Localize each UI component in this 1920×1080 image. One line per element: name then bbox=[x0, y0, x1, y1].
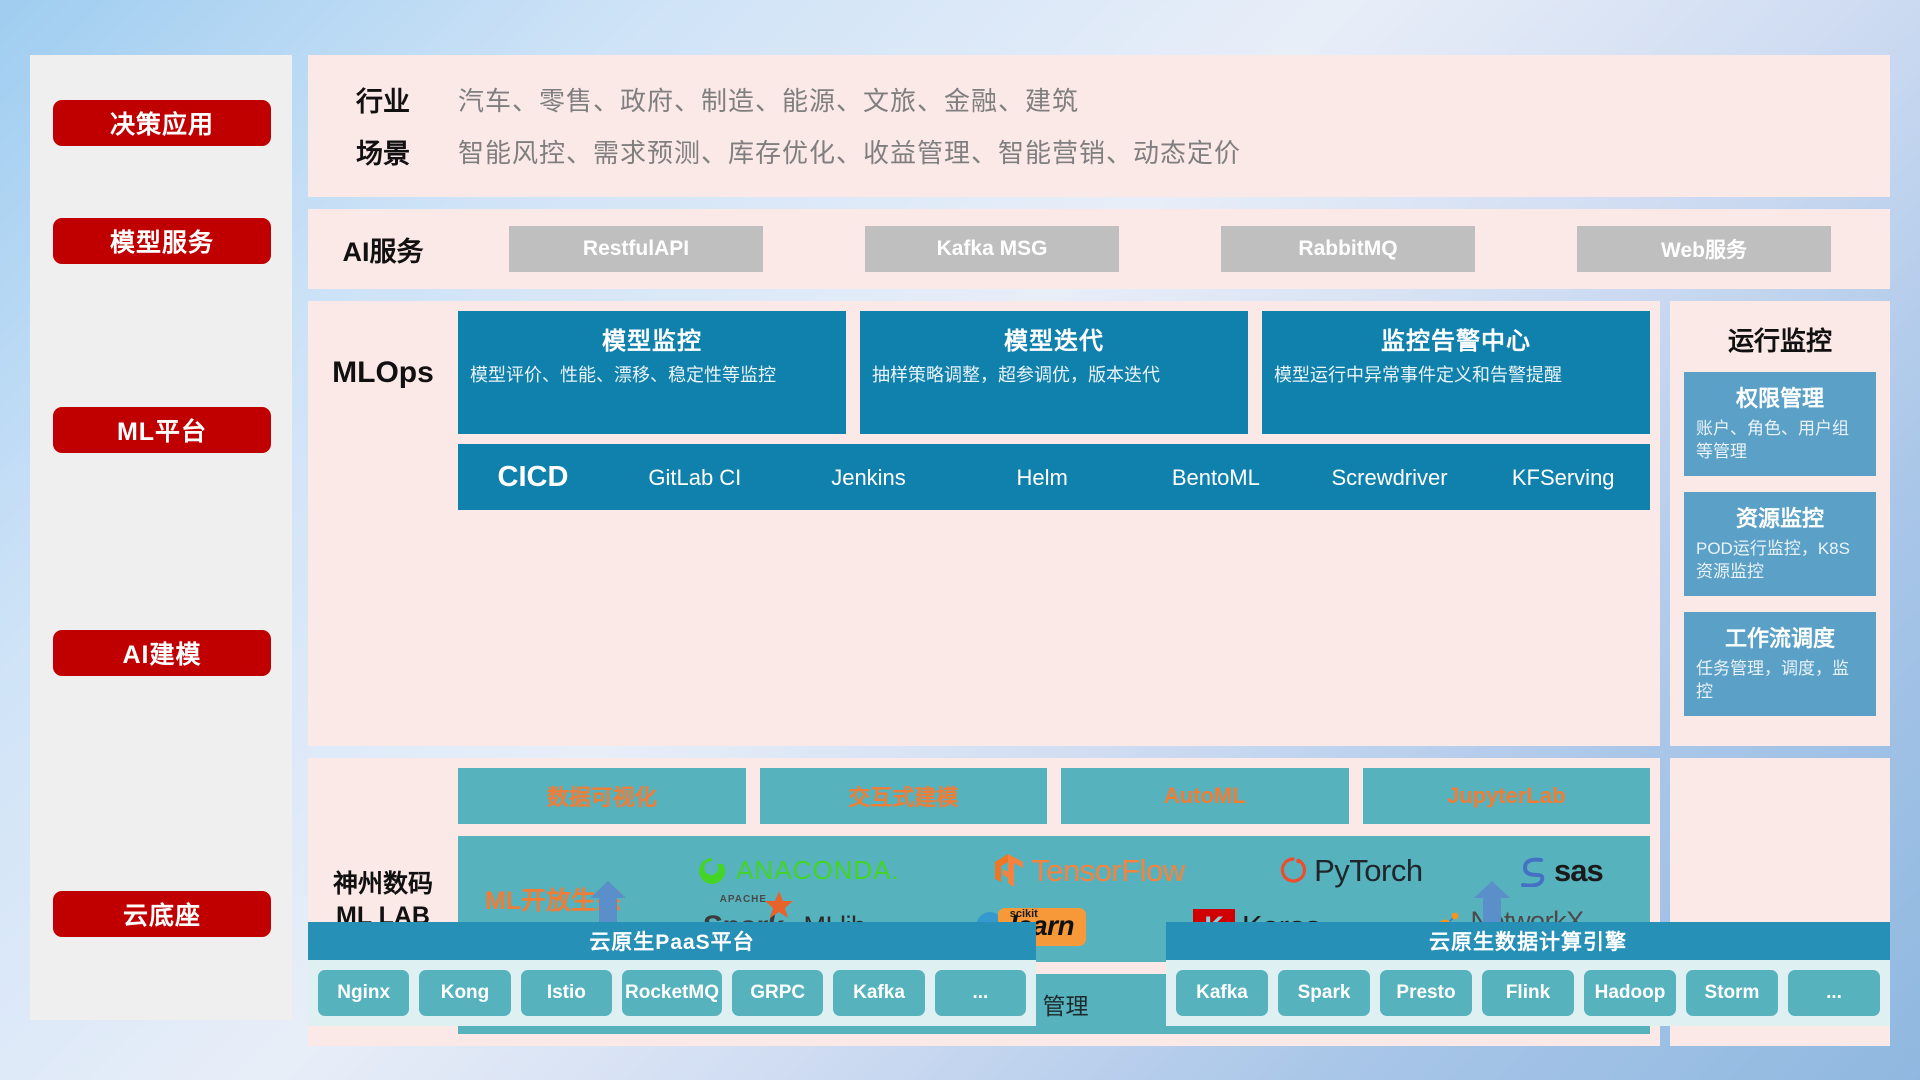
cicd-item-bentoml[interactable]: BentoML bbox=[1129, 465, 1303, 489]
card-title: 模型监控 bbox=[470, 321, 834, 356]
industry-values: 汽车、零售、政府、制造、能源、文旅、金融、建筑 bbox=[458, 81, 1079, 118]
paas-title: 云原生PaaS平台 bbox=[308, 922, 1036, 960]
paas-chip-grpc[interactable]: GRPC bbox=[732, 970, 823, 1016]
engine-chip-more[interactable]: ... bbox=[1788, 970, 1880, 1016]
ml-platform-row: MLOps 模型监控 模型评价、性能、漂移、稳定性等监控 模型迭代 抽样策略调整… bbox=[308, 301, 1890, 746]
sidebar-item-ml-platform[interactable]: ML平台 bbox=[53, 407, 271, 453]
card-title: 监控告警中心 bbox=[1274, 321, 1638, 356]
sidebar-item-ai-modeling[interactable]: AI建模 bbox=[53, 630, 271, 676]
paas-chip-more[interactable]: ... bbox=[935, 970, 1026, 1016]
engine-chip-hadoop[interactable]: Hadoop bbox=[1584, 970, 1676, 1016]
card-desc: 模型评价、性能、漂移、稳定性等监控 bbox=[470, 363, 834, 387]
engine-chip-kafka[interactable]: Kafka bbox=[1176, 970, 1268, 1016]
sidebar-label: 决策应用 bbox=[110, 105, 214, 141]
scenario-label: 场景 bbox=[308, 132, 458, 171]
monitor-card-resource[interactable]: 资源监控 POD运行监控，K8S资源监控 bbox=[1684, 492, 1876, 596]
sidebar-item-cloud-base[interactable]: 云底座 bbox=[53, 891, 271, 937]
cloud-native-data-engine-panel: 云原生数据计算引擎 Kafka Spark Presto Flink Hadoo… bbox=[1166, 922, 1890, 1026]
card-title: 工作流调度 bbox=[1696, 621, 1864, 653]
engine-title: 云原生数据计算引擎 bbox=[1166, 922, 1890, 960]
engine-chip-storm[interactable]: Storm bbox=[1686, 970, 1778, 1016]
mlops-label: MLOps bbox=[308, 311, 458, 434]
card-desc: 任务管理，调度，监控 bbox=[1696, 658, 1864, 704]
sidebar-item-decision-apps[interactable]: 决策应用 bbox=[53, 100, 271, 146]
service-label: RestfulAPI bbox=[583, 237, 689, 261]
paas-up-arrow-icon bbox=[588, 880, 628, 922]
paas-chip-kong[interactable]: Kong bbox=[419, 970, 510, 1016]
card-title: 模型迭代 bbox=[872, 321, 1236, 356]
sidebar-label: 云底座 bbox=[123, 896, 201, 932]
monitor-card-permission[interactable]: 权限管理 账户、角色、用户组等管理 bbox=[1684, 372, 1876, 476]
service-label: Kafka MSG bbox=[937, 237, 1048, 261]
band-divider bbox=[308, 289, 1890, 301]
runtime-monitor-panel: 运行监控 权限管理 账户、角色、用户组等管理 资源监控 POD运行监控，K8S资… bbox=[1670, 301, 1890, 746]
cicd-bar: CICD GitLab CI Jenkins Helm BentoML Scre… bbox=[458, 444, 1650, 510]
service-label: Web服务 bbox=[1661, 234, 1747, 264]
decision-apps-band: 行业 汽车、零售、政府、制造、能源、文旅、金融、建筑 场景 智能风控、需求预测、… bbox=[308, 55, 1890, 197]
engine-chip-presto[interactable]: Presto bbox=[1380, 970, 1472, 1016]
cicd-item-helm[interactable]: Helm bbox=[955, 465, 1129, 489]
card-desc: 模型运行中异常事件定义和告警提醒 bbox=[1274, 363, 1638, 387]
service-button-kafka-msg[interactable]: Kafka MSG bbox=[865, 226, 1119, 272]
industry-label: 行业 bbox=[308, 80, 458, 119]
paas-chip-rocketmq[interactable]: RocketMQ bbox=[622, 970, 722, 1016]
tool-box-jupyterlab[interactable]: JupyterLab bbox=[1363, 768, 1651, 824]
tool-box-data-visualization[interactable]: 数据可视化 bbox=[458, 768, 746, 824]
card-desc: 抽样策略调整，超参调优，版本迭代 bbox=[872, 363, 1236, 387]
service-button-restfulapi[interactable]: RestfulAPI bbox=[509, 226, 763, 272]
cloud-base-section: 云原生PaaS平台 Nginx Kong Istio RocketMQ GRPC… bbox=[308, 880, 1890, 1040]
card-desc: POD运行监控，K8S资源监控 bbox=[1696, 538, 1864, 584]
ai-service-list: RestfulAPI Kafka MSG RabbitMQ Web服务 bbox=[458, 226, 1890, 272]
sidebar-item-model-service[interactable]: 模型服务 bbox=[53, 218, 271, 264]
cicd-item-jenkins[interactable]: Jenkins bbox=[782, 465, 956, 489]
card-title: 资源监控 bbox=[1696, 501, 1864, 533]
paas-chip-nginx[interactable]: Nginx bbox=[318, 970, 409, 1016]
engine-chip-list: Kafka Spark Presto Flink Hadoop Storm ..… bbox=[1166, 960, 1890, 1026]
card-desc: 账户、角色、用户组等管理 bbox=[1696, 418, 1864, 464]
cicd-item-gitlab-ci[interactable]: GitLab CI bbox=[608, 465, 782, 489]
mlops-card-model-iteration[interactable]: 模型迭代 抽样策略调整，超参调优，版本迭代 bbox=[860, 311, 1248, 434]
card-title: 权限管理 bbox=[1696, 381, 1864, 413]
mlops-card-list: 模型监控 模型评价、性能、漂移、稳定性等监控 模型迭代 抽样策略调整，超参调优，… bbox=[458, 311, 1660, 434]
ml-lab-tool-row: 数据可视化 交互式建模 AutoML JupyterLab bbox=[458, 768, 1650, 824]
ai-service-band: AI服务 RestfulAPI Kafka MSG RabbitMQ Web服务 bbox=[308, 209, 1890, 289]
service-button-rabbitmq[interactable]: RabbitMQ bbox=[1221, 226, 1475, 272]
mlops-wrap: MLOps 模型监控 模型评价、性能、漂移、稳定性等监控 模型迭代 抽样策略调整… bbox=[308, 311, 1660, 434]
ai-service-label: AI服务 bbox=[308, 230, 458, 269]
stack-layer-sidebar: 决策应用 模型服务 ML平台 AI建模 云底座 bbox=[30, 55, 292, 1020]
paas-chip-list: Nginx Kong Istio RocketMQ GRPC Kafka ... bbox=[308, 960, 1036, 1026]
engine-up-arrow-icon bbox=[1472, 880, 1512, 922]
engine-chip-spark[interactable]: Spark bbox=[1278, 970, 1370, 1016]
cicd-item-list: GitLab CI Jenkins Helm BentoML Screwdriv… bbox=[608, 465, 1650, 489]
sidebar-label: ML平台 bbox=[117, 412, 207, 448]
tool-box-interactive-modeling[interactable]: 交互式建模 bbox=[760, 768, 1048, 824]
sidebar-label: AI建模 bbox=[122, 635, 201, 671]
cloud-native-paas-panel: 云原生PaaS平台 Nginx Kong Istio RocketMQ GRPC… bbox=[308, 922, 1036, 1026]
scenario-values: 智能风控、需求预测、库存优化、收益管理、智能营销、动态定价 bbox=[458, 133, 1241, 170]
mlops-card-alert-center[interactable]: 监控告警中心 模型运行中异常事件定义和告警提醒 bbox=[1262, 311, 1650, 434]
service-label: RabbitMQ bbox=[1298, 237, 1397, 261]
runtime-monitor-title: 运行监控 bbox=[1684, 315, 1876, 372]
cicd-item-kfserving[interactable]: KFServing bbox=[1476, 465, 1650, 489]
cicd-label: CICD bbox=[458, 461, 608, 494]
paas-chip-kafka[interactable]: Kafka bbox=[833, 970, 924, 1016]
band-divider bbox=[308, 197, 1890, 209]
engine-chip-flink[interactable]: Flink bbox=[1482, 970, 1574, 1016]
cicd-item-screwdriver[interactable]: Screwdriver bbox=[1303, 465, 1477, 489]
scenario-row: 场景 智能风控、需求预测、库存优化、收益管理、智能营销、动态定价 bbox=[308, 125, 1890, 177]
paas-chip-istio[interactable]: Istio bbox=[521, 970, 612, 1016]
mlops-card-model-monitoring[interactable]: 模型监控 模型评价、性能、漂移、稳定性等监控 bbox=[458, 311, 846, 434]
mlops-band: MLOps 模型监控 模型评价、性能、漂移、稳定性等监控 模型迭代 抽样策略调整… bbox=[308, 301, 1660, 746]
service-button-web[interactable]: Web服务 bbox=[1577, 226, 1831, 272]
monitor-card-workflow[interactable]: 工作流调度 任务管理，调度，监控 bbox=[1684, 612, 1876, 716]
tool-box-automl[interactable]: AutoML bbox=[1061, 768, 1349, 824]
sidebar-label: 模型服务 bbox=[110, 223, 214, 259]
industry-row: 行业 汽车、零售、政府、制造、能源、文旅、金融、建筑 bbox=[308, 73, 1890, 125]
